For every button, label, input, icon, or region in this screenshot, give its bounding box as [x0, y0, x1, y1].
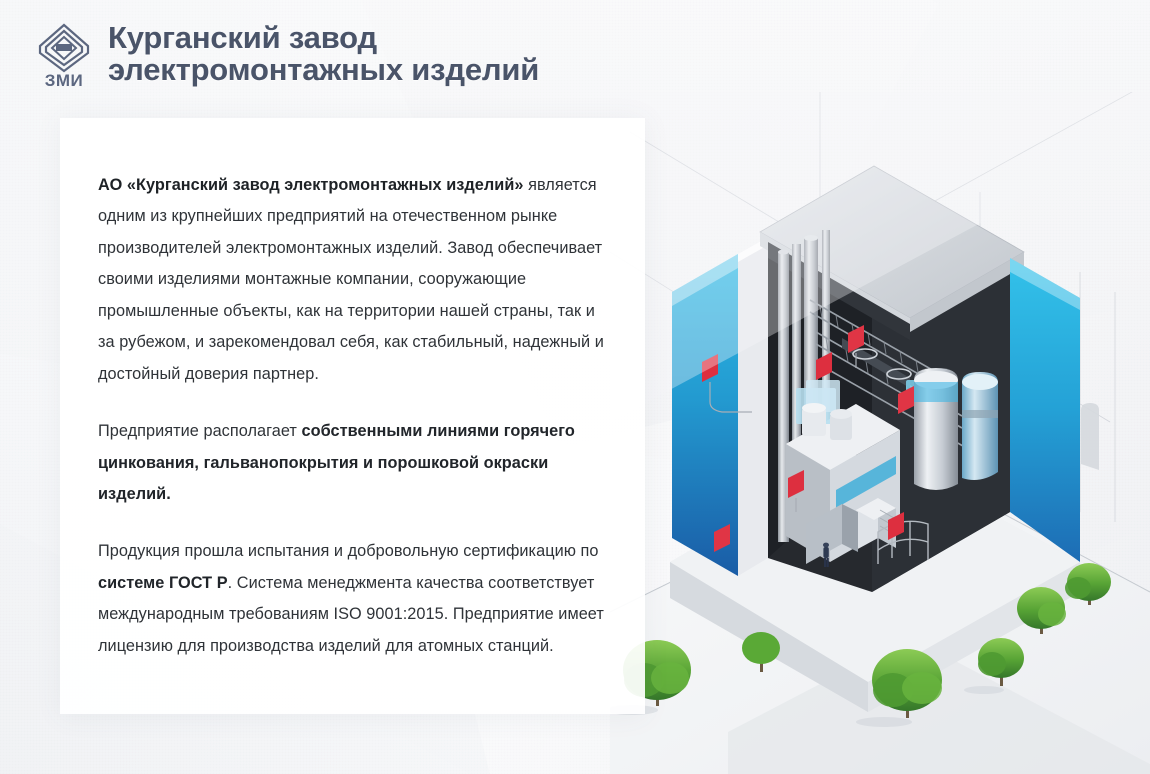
illustration-container — [610, 92, 1150, 774]
zmi-diamond-logo: ЗМИ — [36, 22, 92, 88]
facade-wall-right — [1010, 258, 1080, 562]
slide-root: ЗМИ Курганский завод электромонтажных из… — [0, 0, 1150, 774]
svg-text:ЗМИ: ЗМИ — [45, 71, 84, 88]
paragraph-about-rest: является одним из крупнейших предприятий… — [98, 176, 604, 383]
storage-tanks — [914, 368, 998, 490]
certification-prefix: Продукция прошла испытания и добровольну… — [98, 542, 599, 560]
paragraph-production-lines: Предприятие располагает собственными лин… — [98, 416, 611, 510]
paragraph-certification: Продукция прошла испытания и добровольну… — [98, 536, 611, 662]
page-title-line-1: Курганский завод — [108, 22, 539, 54]
paragraph-about: АО «Курганский завод электромонтажных из… — [98, 170, 611, 390]
company-legal-name: АО «Курганский завод электромонтажных из… — [98, 176, 524, 194]
page-header: ЗМИ Курганский завод электромонтажных из… — [0, 0, 1150, 108]
content-card: АО «Курганский завод электромонтажных из… — [60, 118, 645, 714]
production-lines-prefix: Предприятие располагает — [98, 422, 302, 440]
page-title-line-2: электромонтажных изделий — [108, 54, 539, 86]
certification-standard: системе ГОСТ Р — [98, 574, 228, 592]
page-title: Курганский завод электромонтажных издели… — [108, 22, 539, 85]
